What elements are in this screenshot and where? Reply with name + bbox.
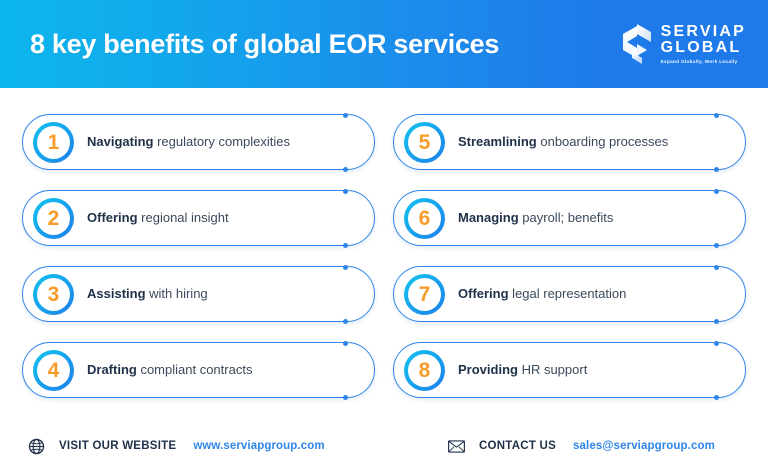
benefit-text-7: Offering legal representation [458, 286, 626, 302]
benefit-number-3: 3 [48, 284, 60, 305]
connector-dot-top-icon [714, 341, 719, 346]
benefits-grid: 1 Navigating regulatory complexities 5 S… [0, 88, 768, 418]
benefit-text-1: Navigating regulatory complexities [87, 134, 290, 150]
connector-dot-top-icon [343, 341, 348, 346]
benefit-number-7: 7 [419, 284, 431, 305]
benefit-text-rest-5: onboarding processes [537, 134, 669, 149]
connector-dot-top-icon [343, 113, 348, 118]
benefit-card-2[interactable]: 2 Offering regional insight [22, 190, 375, 246]
connector-dot-bottom-icon [343, 243, 348, 248]
benefit-cell-4: 4 Drafting compliant contracts [22, 342, 375, 418]
logo-tagline: Expand Globally, Work Locally [661, 60, 746, 65]
connector-dot-bottom-icon [714, 395, 719, 400]
logo-line-2: GLOBAL [661, 40, 746, 57]
benefit-number-badge-5: 5 [404, 122, 445, 163]
benefit-text-rest-6: payroll; benefits [519, 210, 614, 225]
benefit-text-2: Offering regional insight [87, 210, 229, 226]
benefit-number-6: 6 [419, 208, 431, 229]
benefit-text-5: Streamlining onboarding processes [458, 134, 668, 150]
benefit-text-rest-1: regulatory complexities [153, 134, 290, 149]
infographic-poster: 8 key benefits of global EOR services [0, 0, 768, 474]
connector-dot-top-icon [714, 113, 719, 118]
envelope-icon [448, 438, 465, 455]
footer-website-label: VISIT OUR WEBSITE [59, 440, 176, 452]
benefit-cell-2: 2 Offering regional insight [22, 190, 375, 266]
connector-dot-bottom-icon [343, 319, 348, 324]
connector-dot-bottom-icon [714, 319, 719, 324]
benefit-number-badge-2: 2 [33, 198, 74, 239]
brand-logo: SERVIAP GLOBAL Expand Globally, Work Loc… [620, 22, 746, 66]
footer-contact-email-link[interactable]: sales@serviapgroup.com [573, 440, 715, 452]
benefit-text-bold-8: Providing [458, 362, 518, 377]
benefit-text-bold-3: Assisting [87, 286, 146, 301]
benefit-text-rest-4: compliant contracts [137, 362, 253, 377]
globe-icon [28, 438, 45, 455]
benefit-number-8: 8 [419, 360, 431, 381]
benefit-number-5: 5 [419, 132, 431, 153]
benefit-cell-7: 7 Offering legal representation [393, 266, 746, 342]
footer-website-group: VISIT OUR WEBSITE www.serviapgroup.com [28, 438, 448, 455]
benefit-cell-3: 3 Assisting with hiring [22, 266, 375, 342]
benefit-text-rest-8: HR support [518, 362, 587, 377]
benefit-text-3: Assisting with hiring [87, 286, 208, 302]
benefit-number-badge-8: 8 [404, 350, 445, 391]
benefit-card-5[interactable]: 5 Streamlining onboarding processes [393, 114, 746, 170]
connector-dot-top-icon [714, 189, 719, 194]
connector-dot-top-icon [343, 265, 348, 270]
benefit-number-2: 2 [48, 208, 60, 229]
benefit-card-4[interactable]: 4 Drafting compliant contracts [22, 342, 375, 398]
logo-line-1: SERVIAP [661, 24, 746, 41]
benefit-cell-8: 8 Providing HR support [393, 342, 746, 418]
benefit-text-rest-2: regional insight [138, 210, 229, 225]
connector-dot-bottom-icon [343, 395, 348, 400]
benefit-text-6: Managing payroll; benefits [458, 210, 613, 226]
footer-bar: VISIT OUR WEBSITE www.serviapgroup.com C… [0, 418, 768, 474]
benefit-number-badge-1: 1 [33, 122, 74, 163]
header-banner: 8 key benefits of global EOR services [0, 0, 768, 88]
benefit-text-8: Providing HR support [458, 362, 587, 378]
footer-contact-label: CONTACT US [479, 440, 556, 452]
benefit-card-3[interactable]: 3 Assisting with hiring [22, 266, 375, 322]
benefit-number-1: 1 [48, 132, 60, 153]
benefit-text-bold-5: Streamlining [458, 134, 537, 149]
benefit-text-bold-7: Offering [458, 286, 509, 301]
connector-dot-top-icon [343, 189, 348, 194]
connector-dot-bottom-icon [343, 167, 348, 172]
benefit-card-1[interactable]: 1 Navigating regulatory complexities [22, 114, 375, 170]
benefit-cell-5: 5 Streamlining onboarding processes [393, 114, 746, 190]
connector-dot-bottom-icon [714, 167, 719, 172]
footer-website-link[interactable]: www.serviapgroup.com [193, 440, 324, 452]
benefit-number-badge-4: 4 [33, 350, 74, 391]
benefit-text-bold-1: Navigating [87, 134, 153, 149]
benefit-cell-1: 1 Navigating regulatory complexities [22, 114, 375, 190]
benefit-text-rest-3: with hiring [146, 286, 208, 301]
benefit-cell-6: 6 Managing payroll; benefits [393, 190, 746, 266]
connector-dot-bottom-icon [714, 243, 719, 248]
footer-contact-group: CONTACT US sales@serviapgroup.com [448, 438, 715, 455]
benefit-text-4: Drafting compliant contracts [87, 362, 252, 378]
benefit-card-8[interactable]: 8 Providing HR support [393, 342, 746, 398]
benefit-text-bold-2: Offering [87, 210, 138, 225]
benefit-number-badge-7: 7 [404, 274, 445, 315]
serviap-chevron-mark-icon [620, 22, 654, 66]
benefit-card-6[interactable]: 6 Managing payroll; benefits [393, 190, 746, 246]
logo-wordmark: SERVIAP GLOBAL Expand Globally, Work Loc… [661, 24, 746, 64]
benefit-text-bold-6: Managing [458, 210, 519, 225]
benefit-card-7[interactable]: 7 Offering legal representation [393, 266, 746, 322]
benefit-number-badge-6: 6 [404, 198, 445, 239]
benefit-number-badge-3: 3 [33, 274, 74, 315]
benefit-text-rest-7: legal representation [509, 286, 627, 301]
page-title: 8 key benefits of global EOR services [30, 31, 499, 58]
connector-dot-top-icon [714, 265, 719, 270]
benefit-number-4: 4 [48, 360, 60, 381]
benefit-text-bold-4: Drafting [87, 362, 137, 377]
